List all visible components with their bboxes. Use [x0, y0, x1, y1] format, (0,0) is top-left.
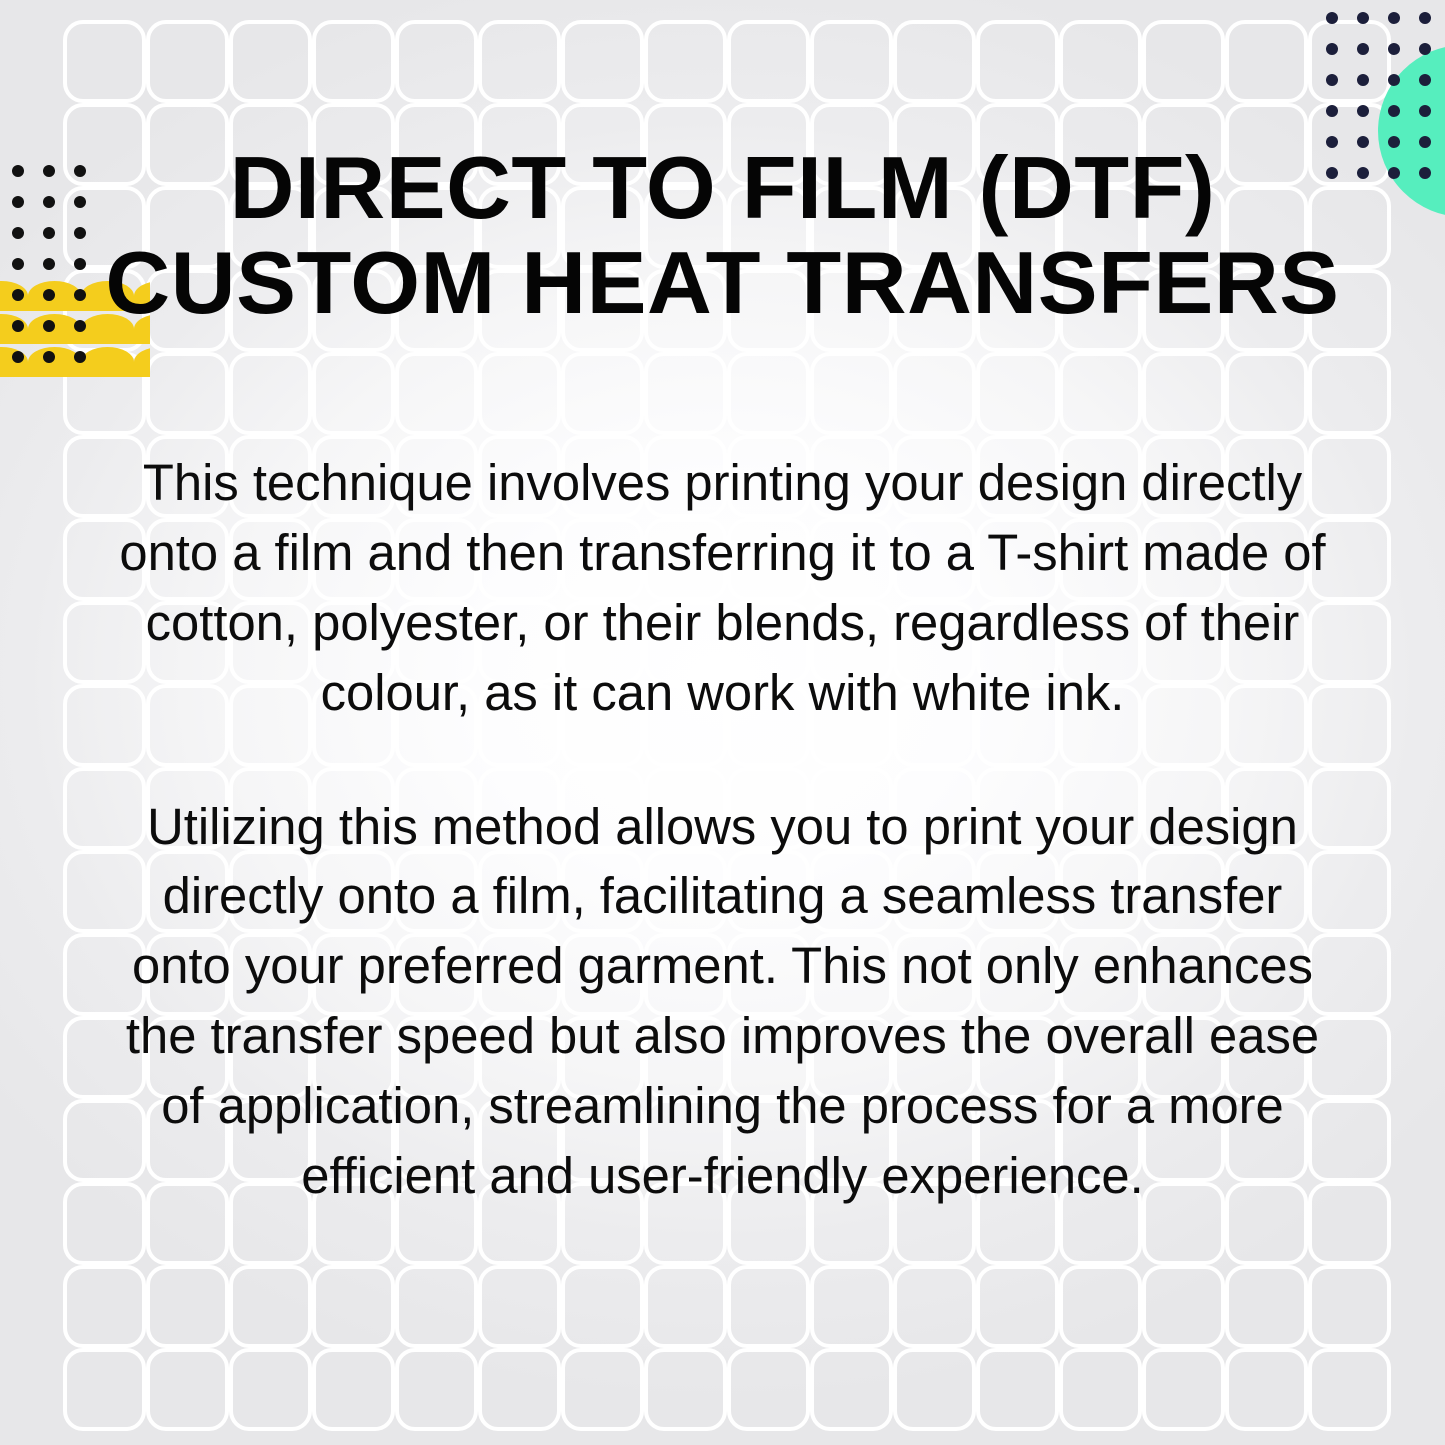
- body-paragraph-1: This technique involves printing your de…: [108, 448, 1337, 727]
- poster-canvas: DIRECT TO FILM (DTF) CUSTOM HEAT TRANSFE…: [0, 0, 1445, 1445]
- poster-content: DIRECT TO FILM (DTF) CUSTOM HEAT TRANSFE…: [0, 0, 1445, 1445]
- body-text-block: This technique involves printing your de…: [105, 448, 1340, 1211]
- title-line-2: CUSTOM HEAT TRANSFERS: [82, 235, 1362, 330]
- page-title: DIRECT TO FILM (DTF) CUSTOM HEAT TRANSFE…: [95, 140, 1350, 330]
- paragraph-spacer: [105, 728, 1340, 792]
- title-line-1: DIRECT TO FILM (DTF): [82, 140, 1362, 235]
- body-paragraph-2: Utilizing this method allows you to prin…: [108, 792, 1337, 1211]
